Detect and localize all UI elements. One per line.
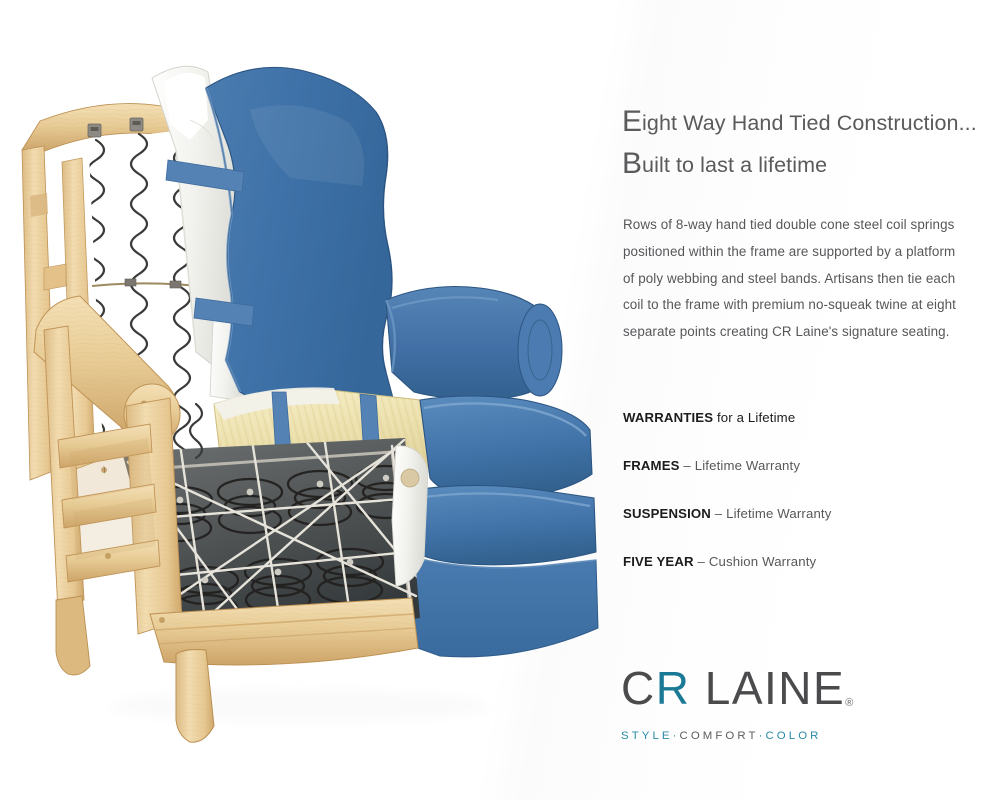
warranty-term: FRAMES xyxy=(623,458,680,473)
warranty-detail: – Cushion Warranty xyxy=(694,554,817,569)
poster-canvas: Eight Way Hand Tied Construction... Buil… xyxy=(0,0,1000,800)
warranty-detail: – Lifetime Warranty xyxy=(711,506,832,521)
headline-line1-text: ight Way Hand Tied Construction... xyxy=(642,111,977,135)
warranty-detail: – Lifetime Warranty xyxy=(680,458,801,473)
registered-trademark-icon: ® xyxy=(845,697,853,709)
tagline-color: COLOR xyxy=(765,730,821,742)
warranty-term: WARRANTIES xyxy=(623,410,713,425)
warranty-row: WARRANTIES for a Lifetime xyxy=(623,410,983,426)
logo-wordmark: CR LAINE® xyxy=(621,665,841,726)
logo-letter-r: R xyxy=(656,662,691,714)
tagline-separator-dot: · xyxy=(673,730,680,742)
warranty-row: FRAMES – Lifetime Warranty xyxy=(623,458,983,474)
page-title: Eight Way Hand Tied Construction... Buil… xyxy=(622,102,992,186)
back-cushion-blue xyxy=(206,67,394,415)
floor-shadow xyxy=(110,690,490,722)
warranty-term: FIVE YEAR xyxy=(623,554,694,569)
logo-tagline: STYLE·COMFORT·COLOR xyxy=(621,730,841,742)
base-upholstery xyxy=(400,485,598,656)
warranty-term: SUSPENSION xyxy=(623,506,711,521)
warranty-detail: for a Lifetime xyxy=(713,410,795,425)
rolled-arm xyxy=(386,287,562,400)
headline-line2-text: uilt to last a lifetime xyxy=(642,153,827,177)
headline-initial-b: B xyxy=(622,147,642,180)
logo-letter-c: C xyxy=(621,662,656,714)
body-paragraph: Rows of 8-way hand tied double cone stee… xyxy=(623,212,963,345)
warranty-row: FIVE YEAR – Cushion Warranty xyxy=(623,554,983,570)
warranty-row: SUSPENSION – Lifetime Warranty xyxy=(623,506,983,522)
chair-illustration xyxy=(0,0,620,800)
tagline-comfort: COMFORT xyxy=(680,730,759,742)
tagline-style: STYLE xyxy=(621,730,673,742)
headline-initial-e: E xyxy=(622,105,642,138)
warranties-list: WARRANTIES for a Lifetime FRAMES – Lifet… xyxy=(623,410,983,570)
logo-word-laine: LAINE xyxy=(690,662,845,714)
chair-construction-photo xyxy=(0,0,620,800)
cr-laine-logo: CR LAINE® STYLE·COMFORT·COLOR xyxy=(621,665,841,742)
